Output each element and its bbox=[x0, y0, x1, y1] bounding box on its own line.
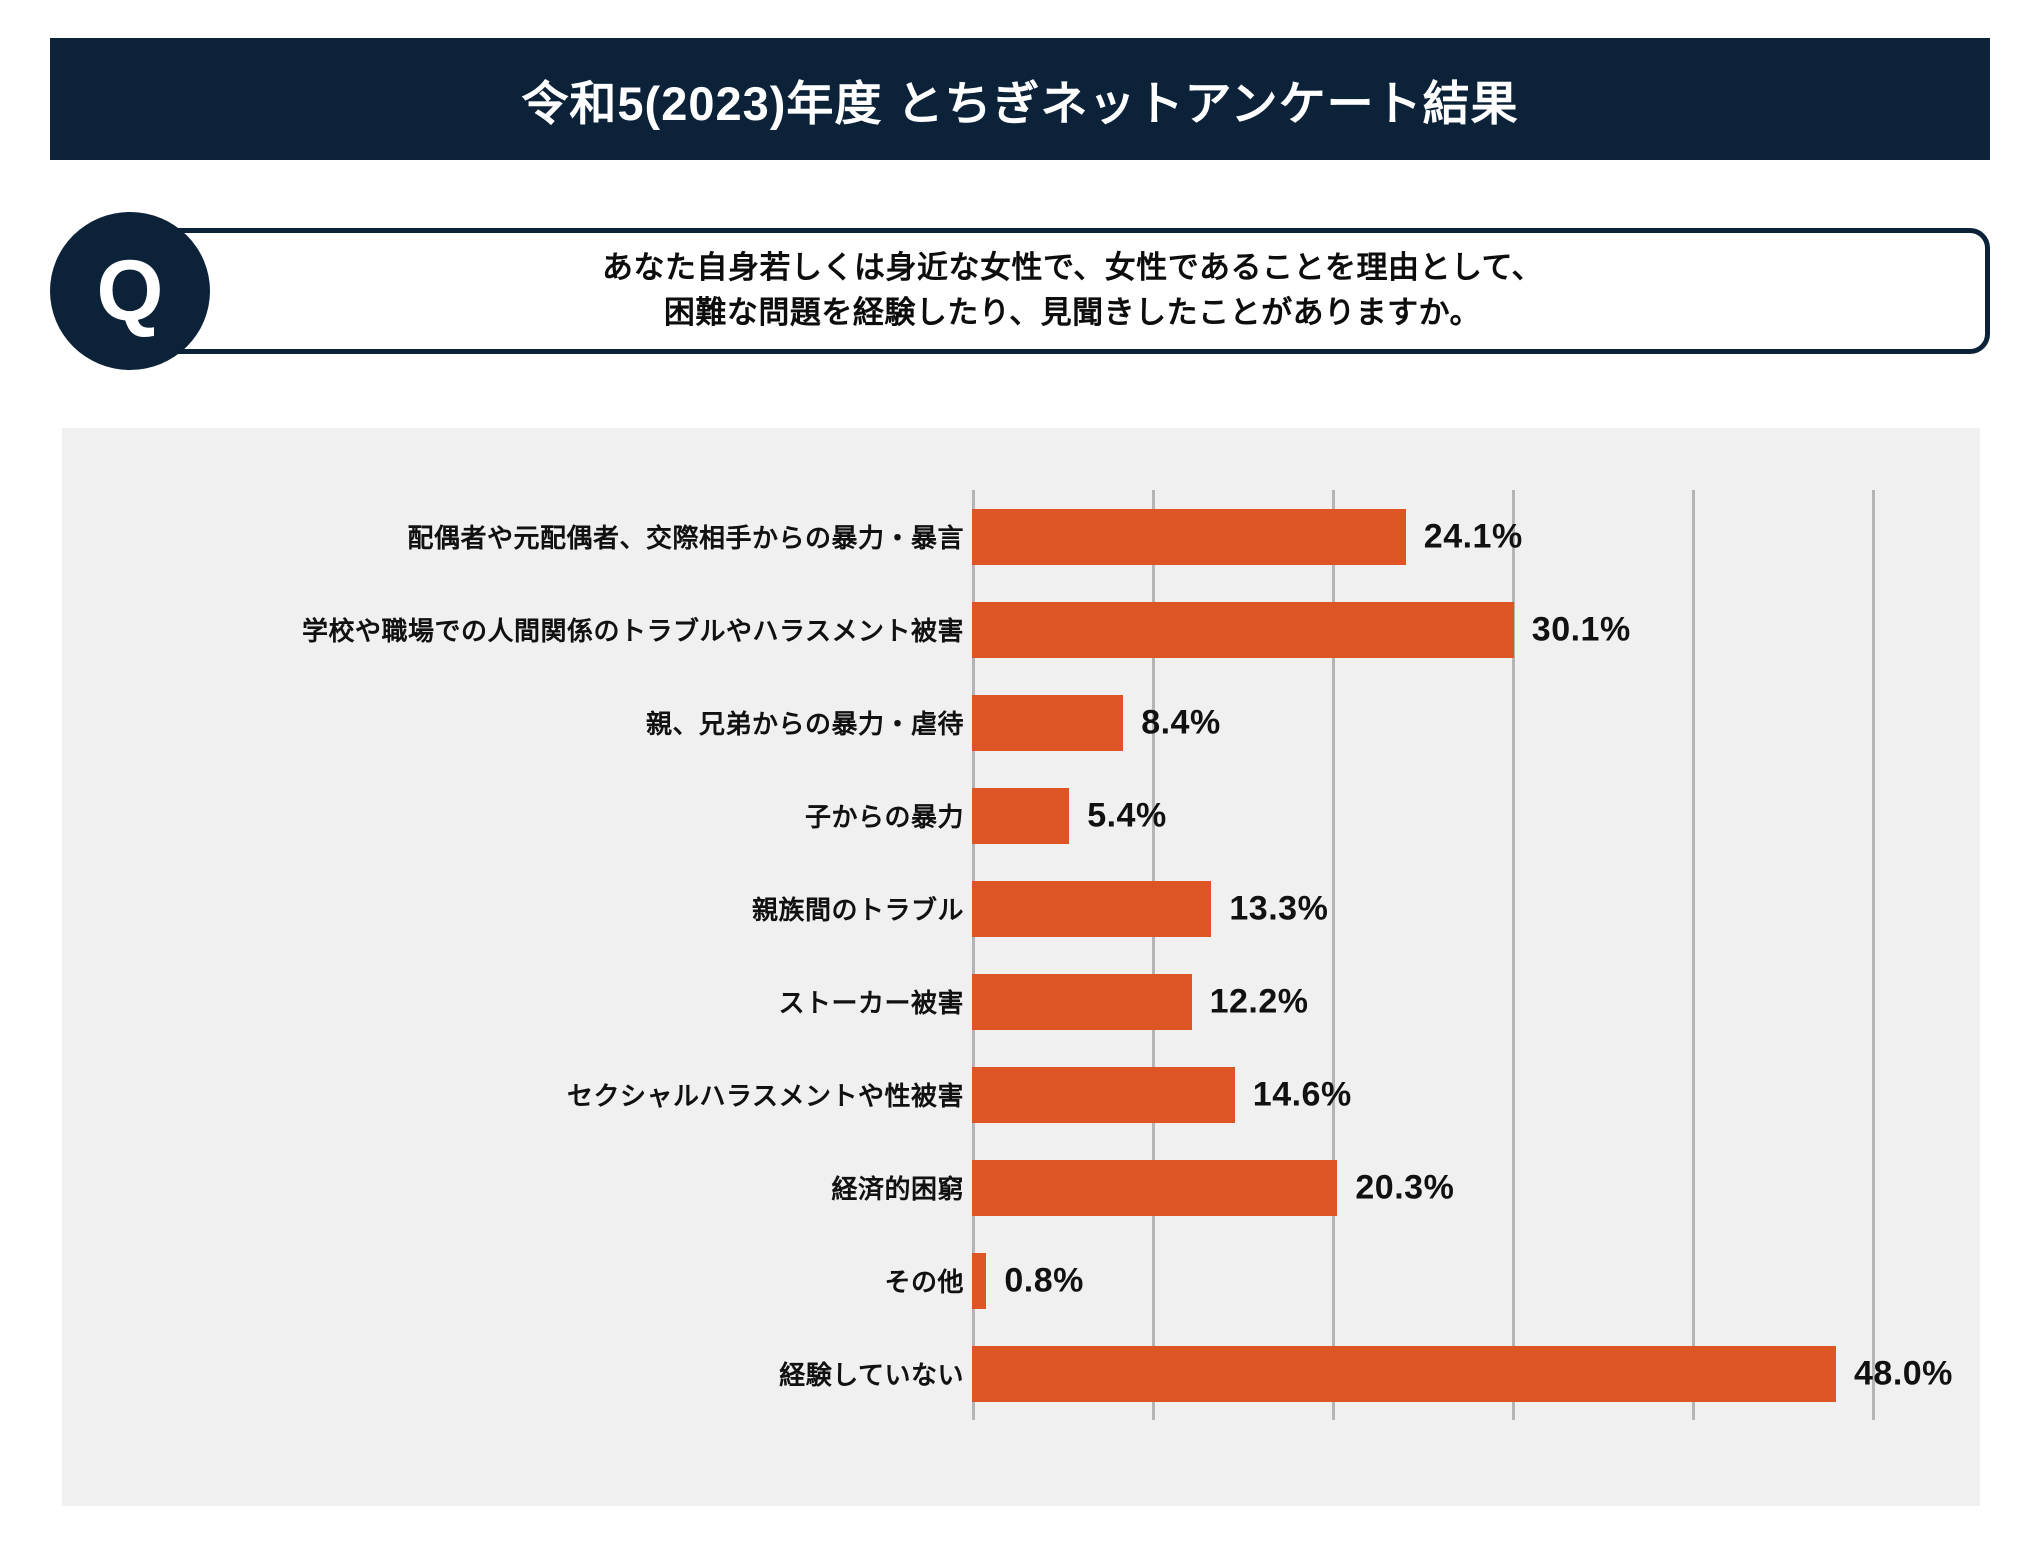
bar bbox=[972, 1253, 986, 1309]
bar-value-label: 48.0% bbox=[1854, 1354, 1953, 1393]
question-line-2: 困難な問題を経験したり、見聞きしたことがありますか。 bbox=[602, 291, 1543, 336]
chart-row: 子からの暴力5.4% bbox=[292, 769, 1942, 862]
bar-value-label: 12.2% bbox=[1210, 982, 1309, 1021]
category-label: 親族間のトラブル bbox=[264, 890, 964, 927]
question-section: あなた自身若しくは身近な女性で、女性であることを理由として、 困難な問題を経験し… bbox=[50, 212, 1990, 364]
question-text: あなた自身若しくは身近な女性で、女性であることを理由として、 困難な問題を経験し… bbox=[562, 246, 1563, 336]
bar-value-label: 20.3% bbox=[1355, 1168, 1454, 1207]
page-root: 令和5(2023)年度 とちぎネットアンケート結果 あなた自身若しくは身近な女性… bbox=[0, 0, 2040, 1546]
category-label: セクシャルハラスメントや性被害 bbox=[264, 1076, 964, 1113]
category-label: 親、兄弟からの暴力・虐待 bbox=[264, 704, 964, 741]
question-badge: Q bbox=[50, 212, 210, 370]
page-title: 令和5(2023)年度 とちぎネットアンケート結果 bbox=[521, 65, 1518, 134]
bar-value-label: 5.4% bbox=[1087, 796, 1167, 835]
header-banner: 令和5(2023)年度 とちぎネットアンケート結果 bbox=[50, 38, 1990, 160]
chart-panel: 配偶者や元配偶者、交際相手からの暴力・暴言24.1%学校や職場での人間関係のトラ… bbox=[62, 428, 1980, 1506]
category-label: 学校や職場での人間関係のトラブルやハラスメント被害 bbox=[264, 611, 964, 648]
question-box: あなた自身若しくは身近な女性で、女性であることを理由として、 困難な問題を経験し… bbox=[135, 228, 1990, 354]
category-label: その他 bbox=[264, 1262, 964, 1299]
bar bbox=[972, 1160, 1337, 1216]
chart-row: その他0.8% bbox=[292, 1234, 1942, 1327]
bar bbox=[972, 1067, 1235, 1123]
chart-row: ストーカー被害12.2% bbox=[292, 955, 1942, 1048]
bar-value-label: 24.1% bbox=[1424, 517, 1523, 556]
chart-row: 経済的困窮20.3% bbox=[292, 1141, 1942, 1234]
bar-value-label: 14.6% bbox=[1253, 1075, 1352, 1114]
category-label: ストーカー被害 bbox=[264, 983, 964, 1020]
bar bbox=[972, 509, 1406, 565]
bar bbox=[972, 974, 1192, 1030]
chart-row: 配偶者や元配偶者、交際相手からの暴力・暴言24.1% bbox=[292, 490, 1942, 583]
category-label: 経験していない bbox=[264, 1355, 964, 1392]
bar-value-label: 30.1% bbox=[1532, 610, 1631, 649]
chart-row: 親族間のトラブル13.3% bbox=[292, 862, 1942, 955]
chart-row: 学校や職場での人間関係のトラブルやハラスメント被害30.1% bbox=[292, 583, 1942, 676]
chart-row: セクシャルハラスメントや性被害14.6% bbox=[292, 1048, 1942, 1141]
bar bbox=[972, 788, 1069, 844]
bar-value-label: 8.4% bbox=[1141, 703, 1221, 742]
bar bbox=[972, 881, 1211, 937]
bar bbox=[972, 695, 1123, 751]
category-label: 子からの暴力 bbox=[264, 797, 964, 834]
category-label: 経済的困窮 bbox=[264, 1169, 964, 1206]
chart-row: 経験していない48.0% bbox=[292, 1327, 1942, 1420]
question-line-1: あなた自身若しくは身近な女性で、女性であることを理由として、 bbox=[602, 246, 1543, 291]
bar-value-label: 0.8% bbox=[1004, 1261, 1084, 1300]
chart-area: 配偶者や元配偶者、交際相手からの暴力・暴言24.1%学校や職場での人間関係のトラ… bbox=[62, 428, 1980, 1506]
chart-row: 親、兄弟からの暴力・虐待8.4% bbox=[292, 676, 1942, 769]
category-label: 配偶者や元配偶者、交際相手からの暴力・暴言 bbox=[264, 518, 964, 555]
bar-value-label: 13.3% bbox=[1229, 889, 1328, 928]
bar bbox=[972, 1346, 1836, 1402]
question-badge-label: Q bbox=[97, 248, 164, 334]
bar-chart: 配偶者や元配偶者、交際相手からの暴力・暴言24.1%学校や職場での人間関係のトラ… bbox=[292, 490, 1942, 1420]
bar bbox=[972, 602, 1514, 658]
chart-rows: 配偶者や元配偶者、交際相手からの暴力・暴言24.1%学校や職場での人間関係のトラ… bbox=[292, 490, 1942, 1420]
